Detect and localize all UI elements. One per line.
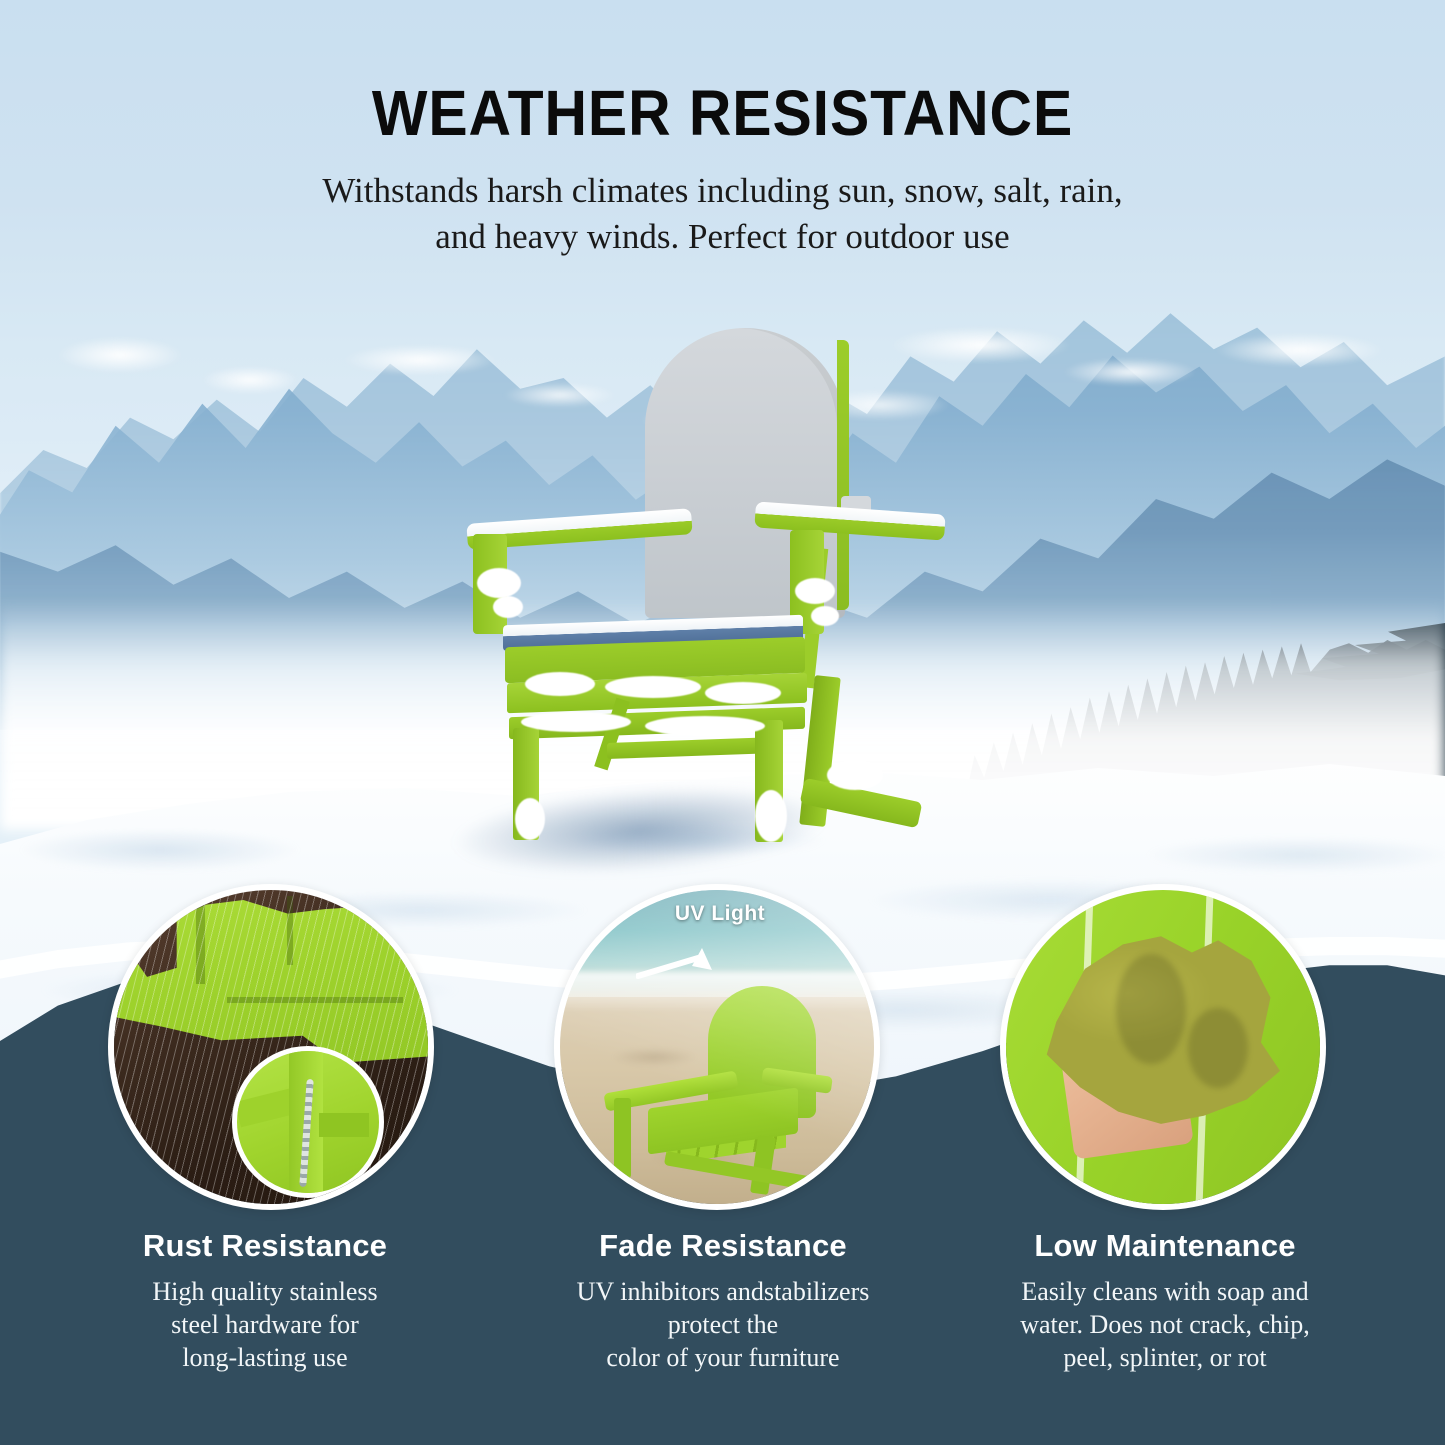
feature-body-line: High quality stainless [75, 1276, 455, 1309]
feature-caption-fade-resistance: Fade Resistance UV inhibitors andstabili… [533, 1228, 913, 1374]
feature-body-low-maintenance: Easily cleans with soap and water. Does … [975, 1276, 1355, 1374]
cloth-fold-shadow [1116, 954, 1186, 1064]
infographic-canvas: WEATHER RESISTANCE Withstands harsh clim… [0, 0, 1445, 1445]
uv-light-label: UV Light [630, 902, 810, 926]
feature-caption-rust-resistance: Rust Resistance High quality stainless s… [75, 1228, 455, 1374]
feature-body-rust-resistance: High quality stainless steel hardware fo… [75, 1276, 455, 1374]
feature-body-line: long-lasting use [75, 1342, 455, 1375]
feature-body-fade-resistance: UV inhibitors andstabilizers protect the… [533, 1276, 913, 1374]
feature-body-line: color of your furniture [533, 1342, 913, 1375]
cloth-fold-shadow [1188, 1008, 1248, 1088]
feature-body-line: protect the [533, 1309, 913, 1342]
inset-rail-right [319, 1113, 369, 1137]
stainless-chain-inset [232, 1046, 384, 1198]
feature-caption-low-maintenance: Low Maintenance Easily cleans with soap … [975, 1228, 1355, 1374]
feature-body-line: Easily cleans with soap and [975, 1276, 1355, 1309]
feature-image-rust-resistance[interactable] [108, 884, 434, 1210]
feature-image-low-maintenance[interactable] [1000, 884, 1326, 1210]
feature-title-rust-resistance: Rust Resistance [75, 1228, 455, 1264]
inset-rail-left [235, 1089, 296, 1128]
feature-body-line: steel hardware for [75, 1309, 455, 1342]
feature-body-line: peel, splinter, or rot [975, 1342, 1355, 1375]
feature-body-line: water. Does not crack, chip, [975, 1309, 1355, 1342]
uv-haze-overlay [560, 890, 874, 1204]
feature-body-line: UV inhibitors andstabilizers [533, 1276, 913, 1309]
uv-light-arrow-icon [636, 946, 722, 986]
feature-title-fade-resistance: Fade Resistance [533, 1228, 913, 1264]
feature-title-low-maintenance: Low Maintenance [975, 1228, 1355, 1264]
feature-image-fade-resistance[interactable]: UV Light [554, 884, 880, 1210]
